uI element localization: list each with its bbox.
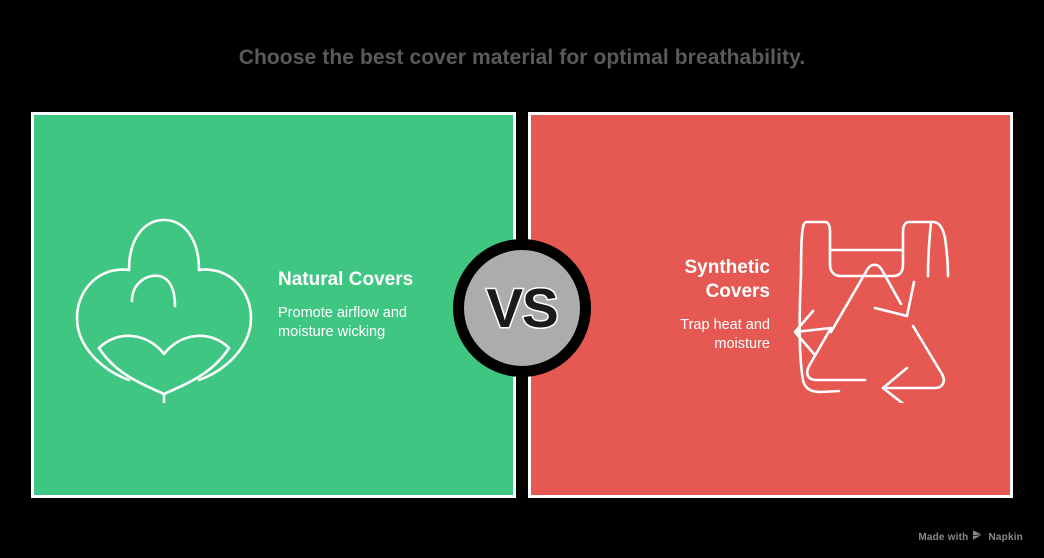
- plastic-bag-recycle-icon: [780, 205, 980, 405]
- infographic-canvas: Choose the best cover material for optim…: [0, 0, 1044, 558]
- cotton-boll-icon: [64, 205, 264, 405]
- comparison-panel-synthetic[interactable]: Synthetic Covers Trap heat and moisture: [528, 112, 1013, 498]
- panel-description-synthetic: Trap heat and moisture: [650, 316, 770, 354]
- napkin-watermark: Made with Napkin: [918, 530, 1023, 544]
- napkin-play-icon: [972, 530, 984, 544]
- panel-content-left: Natural Covers Promote airflow and moist…: [34, 115, 513, 495]
- panel-heading-synthetic: Synthetic Covers: [635, 256, 770, 304]
- watermark-brand: Napkin: [988, 532, 1023, 543]
- watermark-prefix: Made with: [918, 532, 968, 543]
- panel-content-right: Synthetic Covers Trap heat and moisture: [531, 115, 1010, 495]
- versus-label: VS: [486, 281, 557, 336]
- versus-badge: VS: [453, 239, 591, 377]
- comparison-panel-natural[interactable]: Natural Covers Promote airflow and moist…: [31, 112, 516, 498]
- panel-description-natural: Promote airflow and moisture wicking: [278, 304, 443, 342]
- page-title: Choose the best cover material for optim…: [0, 46, 1044, 70]
